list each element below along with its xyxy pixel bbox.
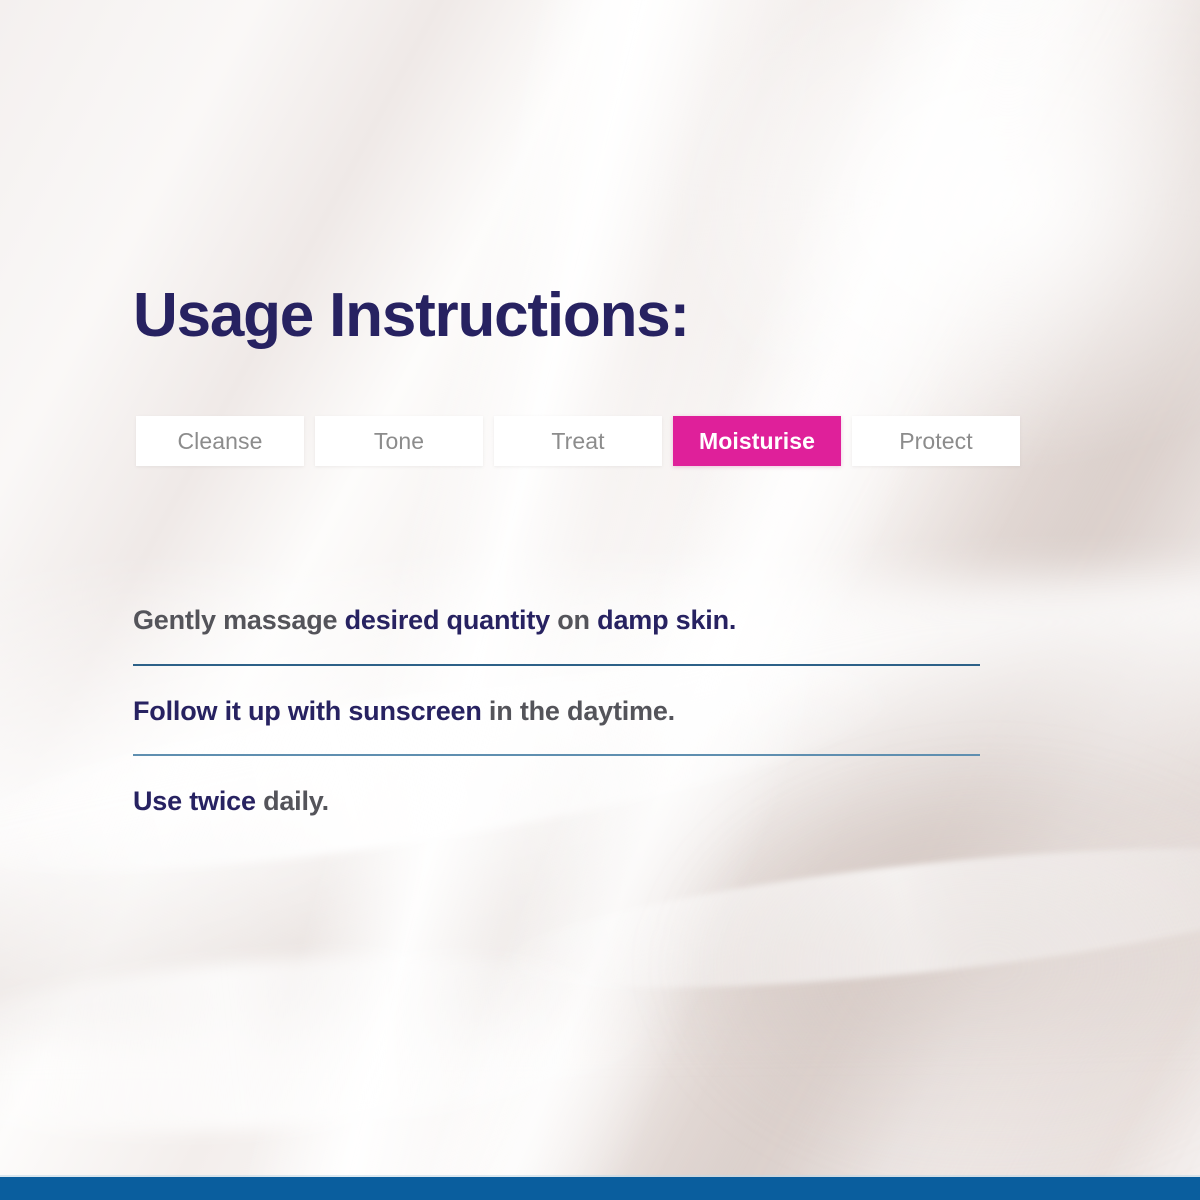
instruction-segment-muted: on [550,605,597,635]
content-layer: Usage Instructions: CleanseToneTreatMois… [0,0,1200,1200]
page-title: Usage Instructions: [133,283,689,348]
instruction-segment-muted: daily. [256,786,329,816]
step-tab-treat[interactable]: Treat [494,416,662,466]
instruction-segment-accent: desired quantity [345,605,550,635]
step-tab-protect[interactable]: Protect [852,416,1020,466]
instruction-segment-accent: Use twice [133,786,256,816]
instruction-text: Gently massage desired quantity on damp … [133,603,980,639]
instruction-text: Follow it up with sunscreen in the dayti… [133,694,980,730]
routine-step-tabs: CleanseToneTreatMoisturiseProtect [136,416,1020,466]
instruction-divider [133,754,980,756]
instruction-list: Gently massage desired quantity on damp … [133,603,980,820]
instruction-segment-muted: in the daytime. [482,696,675,726]
poster-canvas: Usage Instructions: CleanseToneTreatMois… [0,0,1200,1200]
step-tab-tone[interactable]: Tone [315,416,483,466]
instruction-segment-accent: Follow it up with sunscreen [133,696,482,726]
instruction-divider [133,664,980,666]
bottom-accent-bar [0,1177,1200,1200]
instruction-row: Follow it up with sunscreen in the dayti… [133,694,980,730]
instruction-segment-muted: Gently massage [133,605,345,635]
instruction-row: Use twice daily. [133,784,980,820]
instruction-segment-accent: damp skin. [597,605,736,635]
step-tab-cleanse[interactable]: Cleanse [136,416,304,466]
instruction-row: Gently massage desired quantity on damp … [133,603,980,639]
instruction-text: Use twice daily. [133,784,980,820]
step-tab-moisturise[interactable]: Moisturise [673,416,841,466]
